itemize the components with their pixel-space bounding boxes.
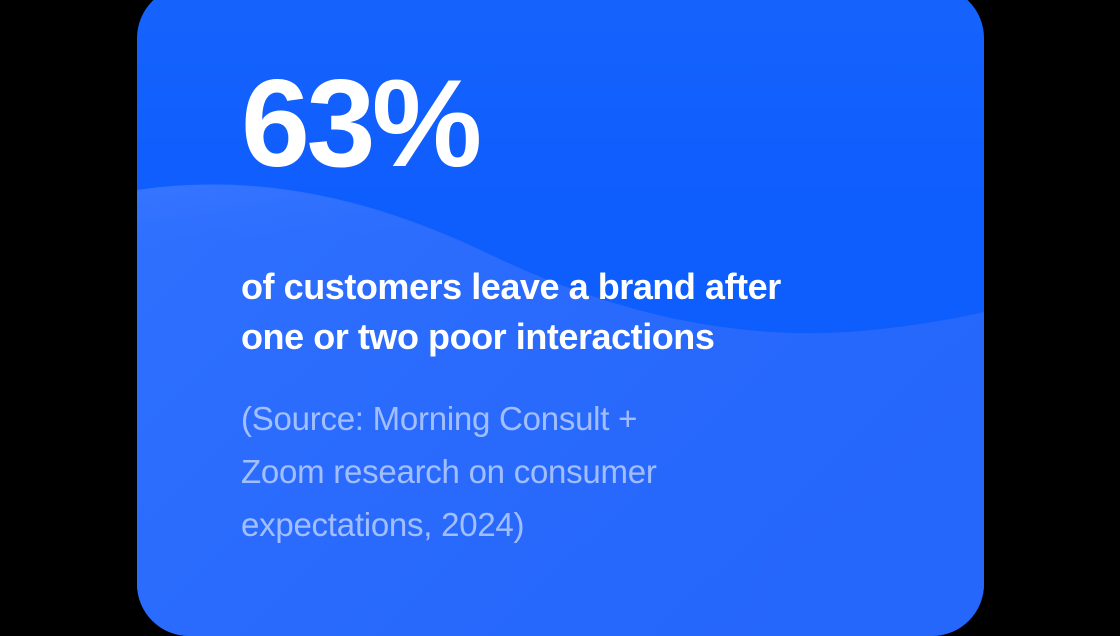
stat-headline-line-1: of customers leave a brand after bbox=[241, 262, 881, 312]
stat-card: 63% of customers leave a brand after one… bbox=[137, 0, 984, 636]
stat-card-content: 63% of customers leave a brand after one… bbox=[241, 0, 941, 636]
stat-source-line-3: expectations, 2024) bbox=[241, 498, 821, 551]
stat-headline-line-2: one or two poor interactions bbox=[241, 312, 881, 362]
stat-headline: of customers leave a brand after one or … bbox=[241, 262, 881, 362]
stat-source: (Source: Morning Consult + Zoom research… bbox=[241, 392, 821, 551]
stat-source-line-2: Zoom research on consumer bbox=[241, 445, 821, 498]
stat-card-canvas: 63% of customers leave a brand after one… bbox=[0, 0, 1120, 628]
stat-figure: 63% bbox=[241, 62, 479, 186]
stat-source-line-1: (Source: Morning Consult + bbox=[241, 392, 821, 445]
